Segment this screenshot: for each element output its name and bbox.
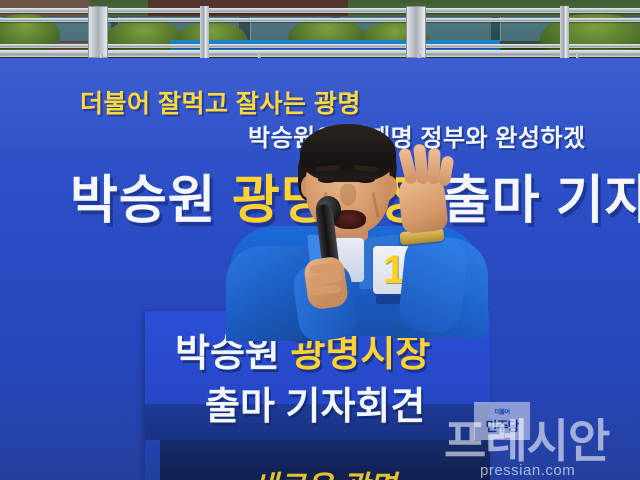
arm-right bbox=[397, 233, 469, 335]
truss-post bbox=[406, 6, 426, 58]
podium-bottom-text: 새로운 광명 bbox=[250, 462, 396, 480]
banner-headline-name: 박승원 bbox=[70, 172, 232, 230]
party-logo: 더불어 민주당 bbox=[474, 402, 530, 440]
truss-post bbox=[88, 6, 108, 58]
hair bbox=[300, 124, 396, 182]
nose bbox=[340, 184, 356, 206]
photo-canvas: 더불어 잘먹고 잘사는 광명 박승원이 이재명 정부와 완성하겠 박승원 광명시… bbox=[0, 0, 640, 480]
party-logo-main: 민주당 bbox=[486, 416, 519, 435]
truss-post bbox=[200, 6, 209, 58]
truss-post bbox=[560, 6, 569, 58]
podium-title-line2: 출마 기자회견 bbox=[205, 375, 425, 430]
eye-left bbox=[318, 176, 337, 183]
party-logo-top: 더불어 bbox=[494, 407, 509, 416]
banner-slogan-line1: 더불어 잘먹고 잘사는 광명 bbox=[80, 84, 361, 120]
speaker-figure: 1 bbox=[250, 118, 460, 323]
eye-right bbox=[356, 176, 375, 183]
